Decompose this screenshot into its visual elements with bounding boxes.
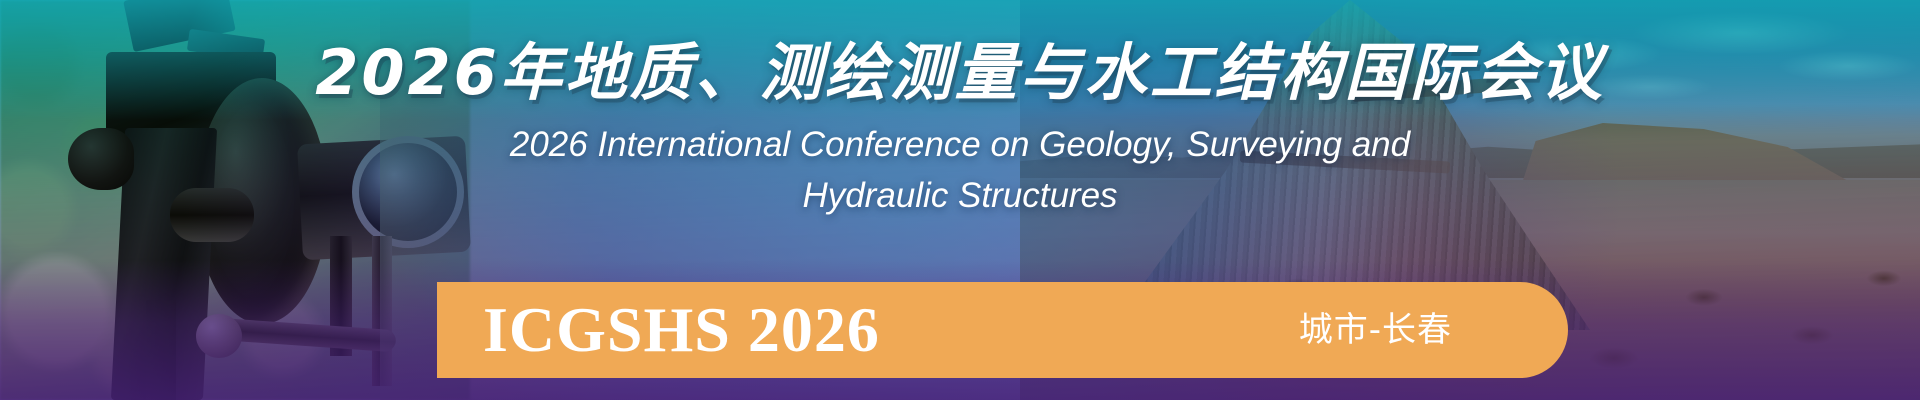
conference-acronym: ICGSHS 2026 bbox=[483, 298, 880, 362]
conference-title-english-line-2: Hydraulic Structures bbox=[0, 171, 1920, 222]
conference-title-english: 2026 International Conference on Geology… bbox=[0, 104, 1920, 222]
conference-title-english-line-1: 2026 International Conference on Geology… bbox=[0, 120, 1920, 171]
acronym-ribbon: ICGSHS 2026 城市-长春 bbox=[437, 282, 1568, 378]
conference-city-label: 城市-长春 bbox=[1299, 313, 1452, 347]
conference-title-chinese: 2026年地质、测绘测量与水工结构国际会议 bbox=[0, 0, 1920, 104]
conference-banner: 2026年地质、测绘测量与水工结构国际会议 2026 International… bbox=[0, 0, 1920, 400]
title-block: 2026年地质、测绘测量与水工结构国际会议 2026 International… bbox=[0, 0, 1920, 222]
